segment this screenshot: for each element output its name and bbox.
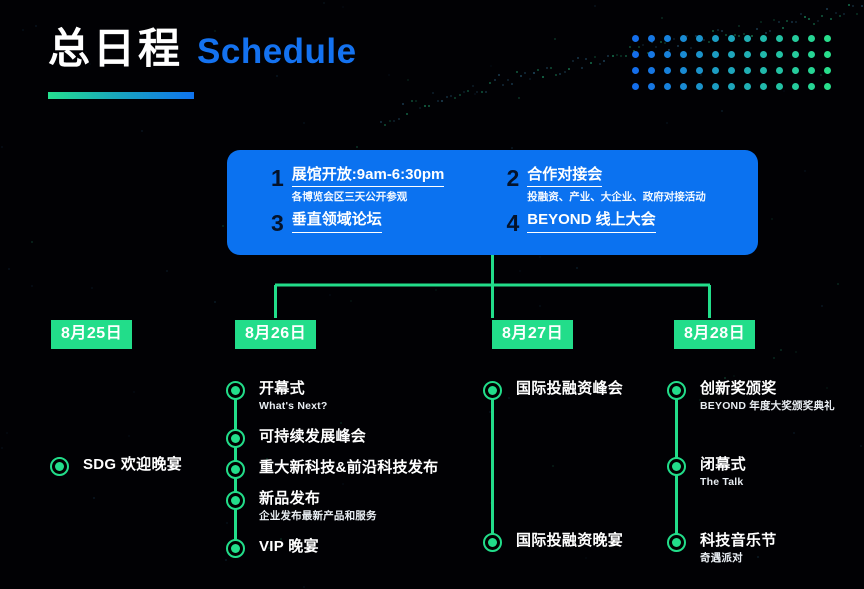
dot-matrix-decoration bbox=[632, 35, 840, 99]
list-item[interactable]: 可持续发展峰会 bbox=[226, 428, 366, 448]
date-badge-aug27[interactable]: 8月27日 bbox=[492, 320, 573, 349]
list-item[interactable]: 创新奖颁奖 BEYOND 年度大奖颁奖典礼 bbox=[667, 380, 835, 413]
header: 总日程 Schedule bbox=[48, 28, 357, 99]
bullet-icon bbox=[667, 457, 686, 476]
timeline-column-aug27: 国际投融资峰会 国际投融资晚宴 bbox=[483, 380, 683, 560]
event-subtitle: 奇遇派对 bbox=[700, 552, 777, 565]
event-title: 科技音乐节 bbox=[700, 532, 777, 549]
event-title: 重大新科技&前沿科技发布 bbox=[259, 459, 438, 476]
event-subtitle: The Talk bbox=[700, 476, 746, 489]
bullet-icon bbox=[226, 381, 245, 400]
list-item[interactable]: 国际投融资晚宴 bbox=[483, 532, 623, 552]
panel-item-title: 合作对接会 bbox=[527, 166, 602, 187]
bullet-icon bbox=[226, 460, 245, 479]
panel-item-number: 2 bbox=[507, 167, 520, 190]
title-chinese: 总日程 bbox=[48, 28, 183, 70]
bullet-icon bbox=[667, 381, 686, 400]
bullet-icon bbox=[483, 381, 502, 400]
event-title: 国际投融资峰会 bbox=[516, 380, 623, 397]
event-title: 创新奖颁奖 bbox=[700, 380, 835, 397]
event-title: 新品发布 bbox=[259, 490, 377, 507]
panel-item-number: 4 bbox=[507, 212, 520, 235]
list-item[interactable]: SDG 欢迎晚宴 bbox=[50, 456, 182, 476]
event-subtitle: BEYOND 年度大奖颁奖典礼 bbox=[700, 400, 835, 413]
timeline-line bbox=[491, 390, 494, 542]
highlights-panel: 1 展馆开放:9am-6:30pm 各博览会区三天公开参观 2 合作对接会 投融… bbox=[227, 150, 758, 255]
timeline-column-aug28: 创新奖颁奖 BEYOND 年度大奖颁奖典礼 闭幕式 The Talk 科技音乐节… bbox=[667, 380, 864, 570]
title-english: Schedule bbox=[197, 34, 357, 69]
event-title: 闭幕式 bbox=[700, 456, 746, 473]
list-item[interactable]: 闭幕式 The Talk bbox=[667, 456, 746, 489]
panel-item-title: BEYOND 线上大会 bbox=[527, 211, 655, 232]
bullet-icon bbox=[226, 429, 245, 448]
connector-tree bbox=[0, 250, 864, 330]
bullet-icon bbox=[50, 457, 69, 476]
title-gradient-rule bbox=[48, 92, 194, 99]
panel-item-subtitle: 各博览会区三天公开参观 bbox=[292, 191, 408, 203]
event-title: VIP 晚宴 bbox=[259, 538, 319, 555]
timeline-column-aug25: SDG 欢迎晚宴 bbox=[50, 380, 230, 560]
page-title: 总日程 Schedule bbox=[48, 28, 357, 70]
schedule-poster: 总日程 Schedule 1 展馆开放:9am-6:30pm 各博览会区三天公开… bbox=[0, 0, 864, 589]
panel-item-number: 1 bbox=[271, 167, 284, 190]
bullet-icon bbox=[226, 491, 245, 510]
panel-item-3[interactable]: 3 垂直领域论坛 bbox=[227, 211, 493, 235]
date-badge-aug28[interactable]: 8月28日 bbox=[674, 320, 755, 349]
event-title: SDG 欢迎晚宴 bbox=[83, 456, 182, 473]
list-item[interactable]: 科技音乐节 奇遇派对 bbox=[667, 532, 777, 565]
panel-item-number: 3 bbox=[271, 212, 284, 235]
event-title: 国际投融资晚宴 bbox=[516, 532, 623, 549]
panel-item-4[interactable]: 4 BEYOND 线上大会 bbox=[493, 211, 759, 235]
list-item[interactable]: 国际投融资峰会 bbox=[483, 380, 623, 400]
bullet-icon bbox=[667, 533, 686, 552]
event-subtitle: What's Next? bbox=[259, 400, 328, 413]
panel-item-title: 垂直领域论坛 bbox=[292, 211, 382, 232]
panel-item-1[interactable]: 1 展馆开放:9am-6:30pm 各博览会区三天公开参观 bbox=[227, 166, 493, 205]
date-badge-aug26[interactable]: 8月26日 bbox=[235, 320, 316, 349]
list-item[interactable]: 新品发布 企业发布最新产品和服务 bbox=[226, 490, 377, 523]
list-item[interactable]: 开幕式 What's Next? bbox=[226, 380, 328, 413]
event-subtitle: 企业发布最新产品和服务 bbox=[259, 510, 377, 523]
timeline-column-aug26: 开幕式 What's Next? 可持续发展峰会 重大新科技&前沿科技发布 新品… bbox=[226, 380, 476, 560]
panel-item-title: 展馆开放:9am-6:30pm bbox=[292, 166, 445, 187]
panel-item-subtitle: 投融资、产业、大企业、政府对接活动 bbox=[527, 191, 706, 203]
event-title: 可持续发展峰会 bbox=[259, 428, 366, 445]
date-badge-aug25[interactable]: 8月25日 bbox=[51, 320, 132, 349]
list-item[interactable]: 重大新科技&前沿科技发布 bbox=[226, 459, 438, 479]
event-title: 开幕式 bbox=[259, 380, 328, 397]
bullet-icon bbox=[226, 539, 245, 558]
panel-item-2[interactable]: 2 合作对接会 投融资、产业、大企业、政府对接活动 bbox=[493, 166, 759, 205]
list-item[interactable]: VIP 晚宴 bbox=[226, 538, 319, 558]
bullet-icon bbox=[483, 533, 502, 552]
